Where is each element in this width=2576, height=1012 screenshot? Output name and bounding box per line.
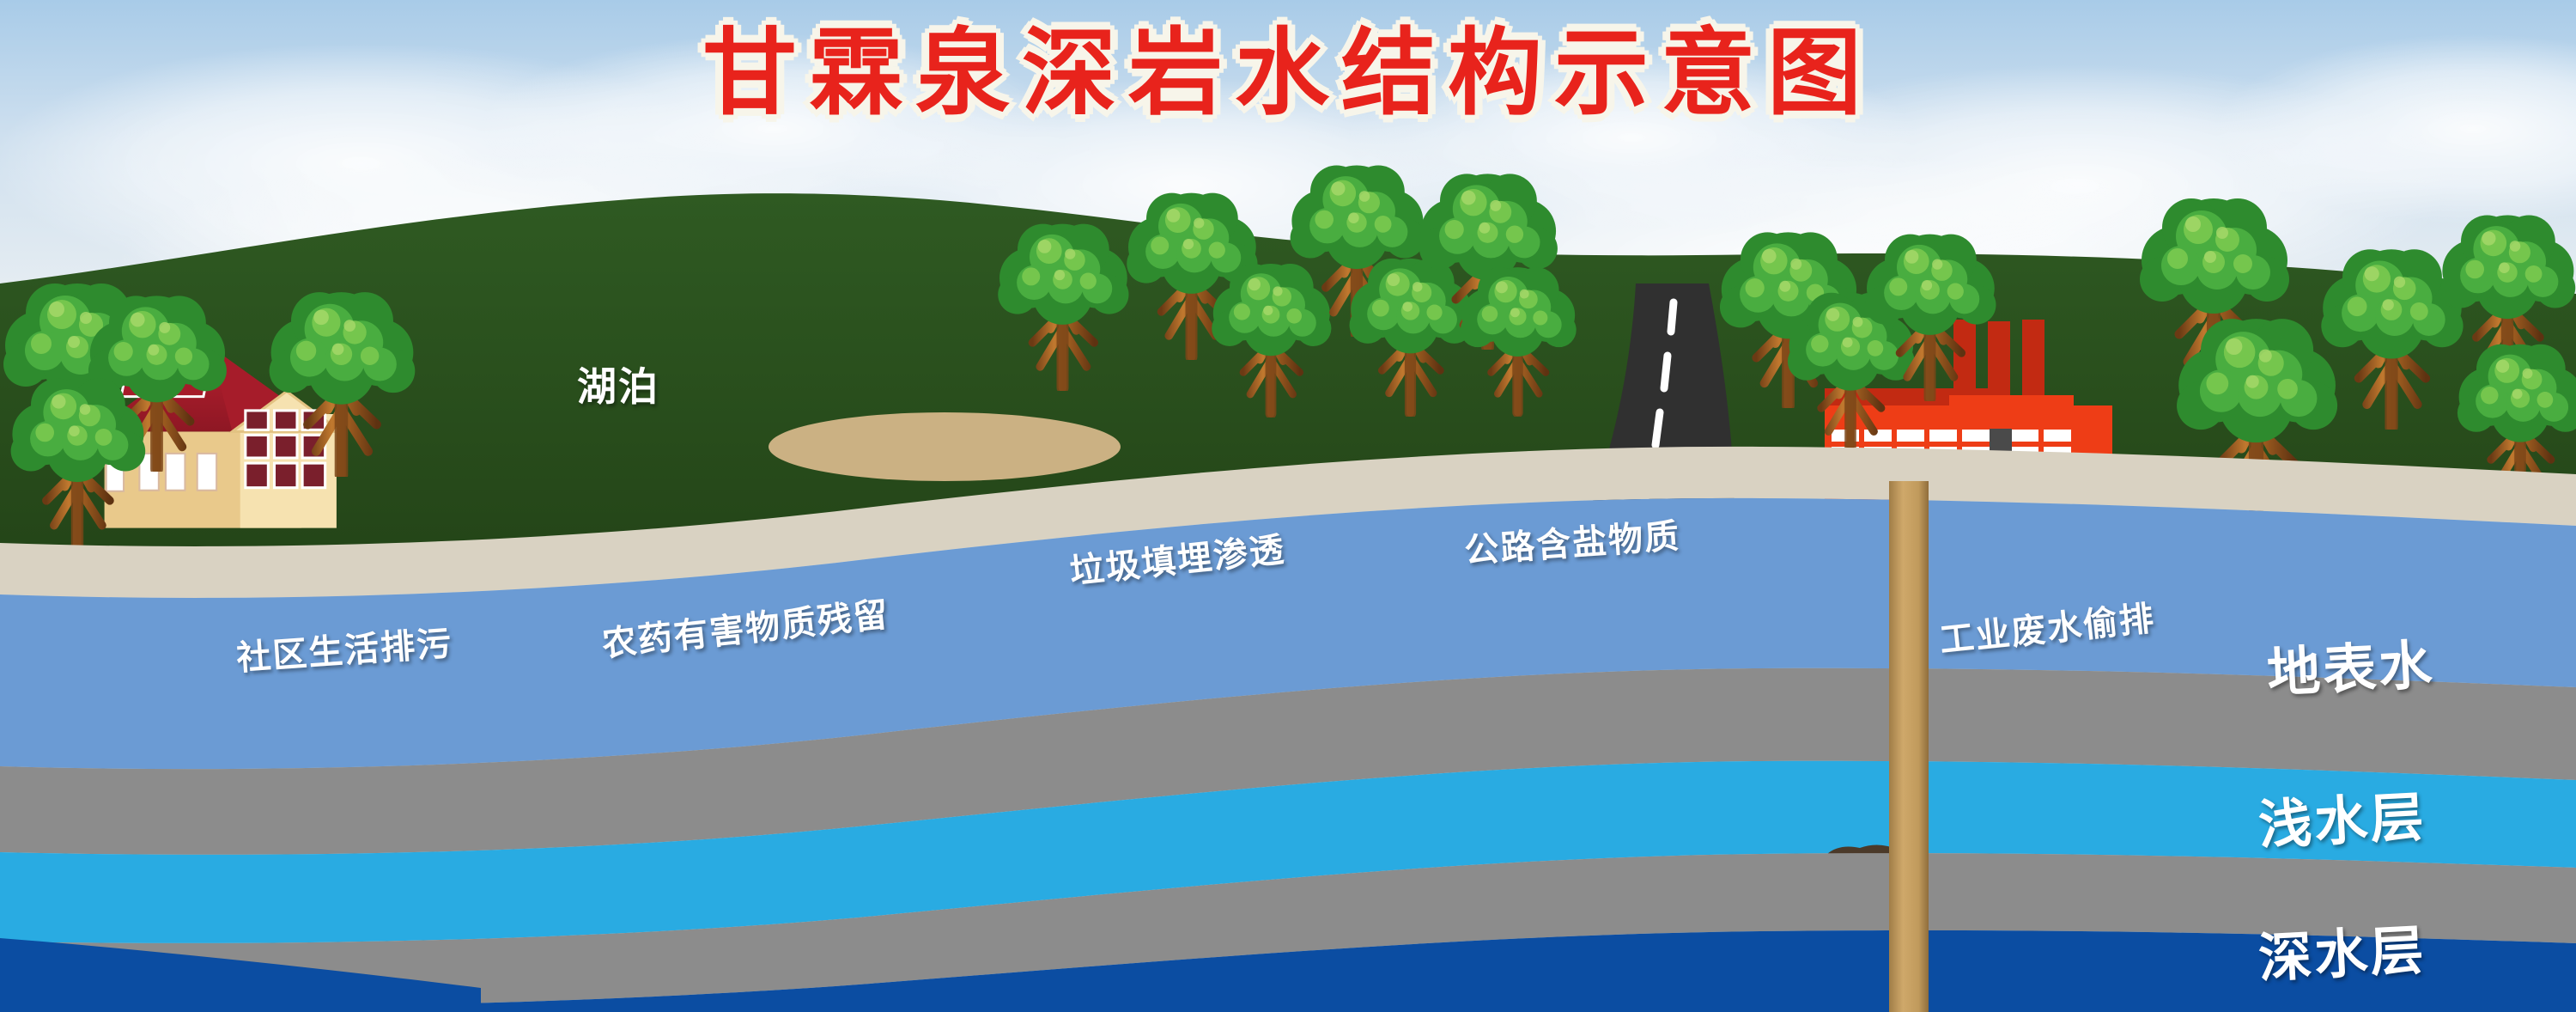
groundwater-cross-section xyxy=(0,0,2576,1012)
diagram-canvas: 甘霖泉深岩水结构示意图 湖泊 社区生活排污 农药有害物质残留 垃圾填埋渗透 公路… xyxy=(0,0,2576,1012)
landfill-patch xyxy=(769,412,1121,481)
well-pipe xyxy=(1889,481,1929,1012)
smokestacks xyxy=(1953,320,2044,397)
